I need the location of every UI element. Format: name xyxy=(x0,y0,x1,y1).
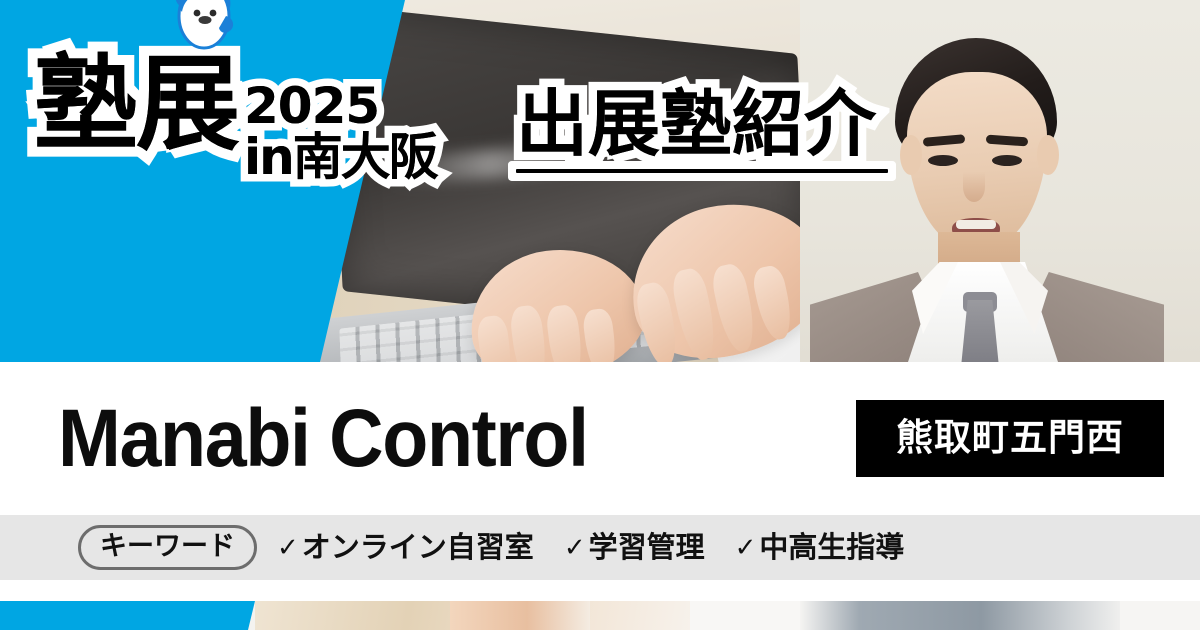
ear-right xyxy=(1037,135,1059,175)
event-logo: 塾展 塾展 2025 2025 in南大阪 in南大阪 xyxy=(34,52,437,182)
keyword-label-pill: キーワード xyxy=(78,525,257,570)
promo-card: 塾展 塾展 2025 2025 in南大阪 in南大阪 出展塾紹介 出展塾紹介 xyxy=(0,0,1200,630)
strip-right xyxy=(1120,601,1200,630)
keyword-text: オンライン自習室 xyxy=(302,533,534,562)
strip-blue-accent xyxy=(0,601,260,630)
logo-kanji-block: 塾展 塾展 xyxy=(34,52,238,156)
bottom-white-gap xyxy=(0,580,1200,601)
keyword-bar: キーワード ✓ オンライン自習室 ✓ 学習管理 ✓ 中高生指導 xyxy=(0,515,1200,580)
check-icon: ✓ xyxy=(735,535,757,561)
penguin-mascot-icon xyxy=(164,0,242,54)
keyword-item: ✓ オンライン自習室 xyxy=(277,533,534,562)
strip-hand xyxy=(450,601,590,630)
finger xyxy=(509,304,550,362)
bottom-photo-strip xyxy=(0,601,1200,630)
finger xyxy=(545,304,585,362)
finger xyxy=(582,307,619,362)
presenter-portrait-photo xyxy=(800,0,1200,362)
strip-suit xyxy=(800,601,1130,630)
keyword-list: ✓ オンライン自習室 ✓ 学習管理 ✓ 中高生指導 xyxy=(277,533,934,562)
finger xyxy=(476,314,515,362)
keyword-item: ✓ 学習管理 xyxy=(564,533,705,562)
finger xyxy=(750,264,796,343)
teeth xyxy=(956,220,996,229)
finger xyxy=(709,262,760,355)
logo-tagline-fill: in南大阪 xyxy=(244,133,437,182)
ear-left xyxy=(900,135,922,175)
check-icon: ✓ xyxy=(564,535,586,561)
hero-headline-block: 出展塾紹介 出展塾紹介 xyxy=(516,88,888,173)
eye-left xyxy=(928,155,958,166)
logo-year-fill: 2025 xyxy=(244,82,379,131)
location-badge: 熊取町五門西 xyxy=(856,400,1164,477)
logo-year-block: 2025 2025 in南大阪 in南大阪 xyxy=(244,82,437,182)
eye-right xyxy=(992,155,1022,166)
check-icon: ✓ xyxy=(277,535,299,561)
logo-kanji-fill: 塾展 xyxy=(34,52,238,156)
school-name: Manabi Control xyxy=(58,398,588,480)
nose xyxy=(963,172,985,202)
keyword-item: ✓ 中高生指導 xyxy=(735,533,905,562)
title-row: Manabi Control 熊取町五門西 xyxy=(0,362,1200,515)
hero-headline-fill: 出展塾紹介 xyxy=(516,88,876,160)
keyword-text: 学習管理 xyxy=(589,533,705,562)
headline-underline xyxy=(516,169,888,173)
keyword-text: 中高生指導 xyxy=(759,533,904,562)
